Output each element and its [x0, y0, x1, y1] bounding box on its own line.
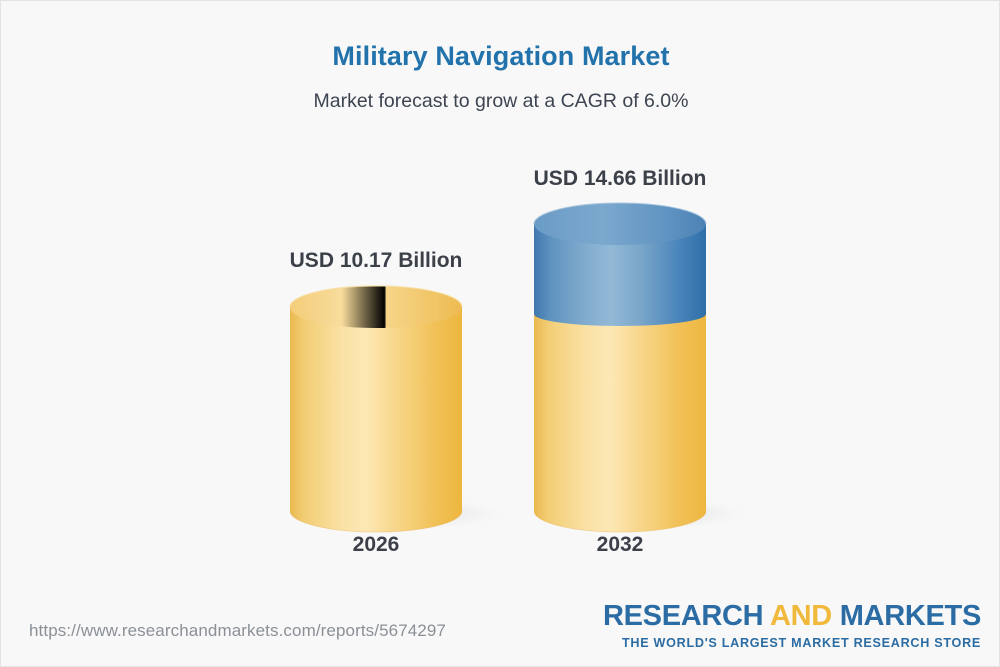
cylinder-2026 [290, 286, 462, 532]
brand-and: AND [770, 600, 840, 632]
cylinder-2026-body [290, 307, 462, 532]
source-url[interactable]: https://www.researchandmarkets.com/repor… [29, 621, 446, 641]
brand-research: RESEARCH [603, 600, 770, 632]
brand-markets: MARKETS [840, 600, 981, 632]
cylinder-2032 [534, 203, 706, 532]
brand-tagline: THE WORLD'S LARGEST MARKET RESEARCH STOR… [603, 636, 981, 650]
brand-wordmark: RESEARCH AND MARKETS [603, 602, 981, 631]
cylinder-plot [1, 1, 1000, 667]
cylinder-2032-base-body [534, 314, 706, 532]
category-label-2032: 2032 [530, 533, 710, 557]
value-label-2032: USD 14.66 Billion [510, 167, 730, 191]
category-label-2026: 2026 [286, 533, 466, 557]
brand-logo: RESEARCH AND MARKETS THE WORLD'S LARGEST… [603, 602, 981, 650]
value-label-2026: USD 10.17 Billion [266, 249, 486, 273]
chart-canvas: Military Navigation Market Market foreca… [0, 0, 1000, 667]
